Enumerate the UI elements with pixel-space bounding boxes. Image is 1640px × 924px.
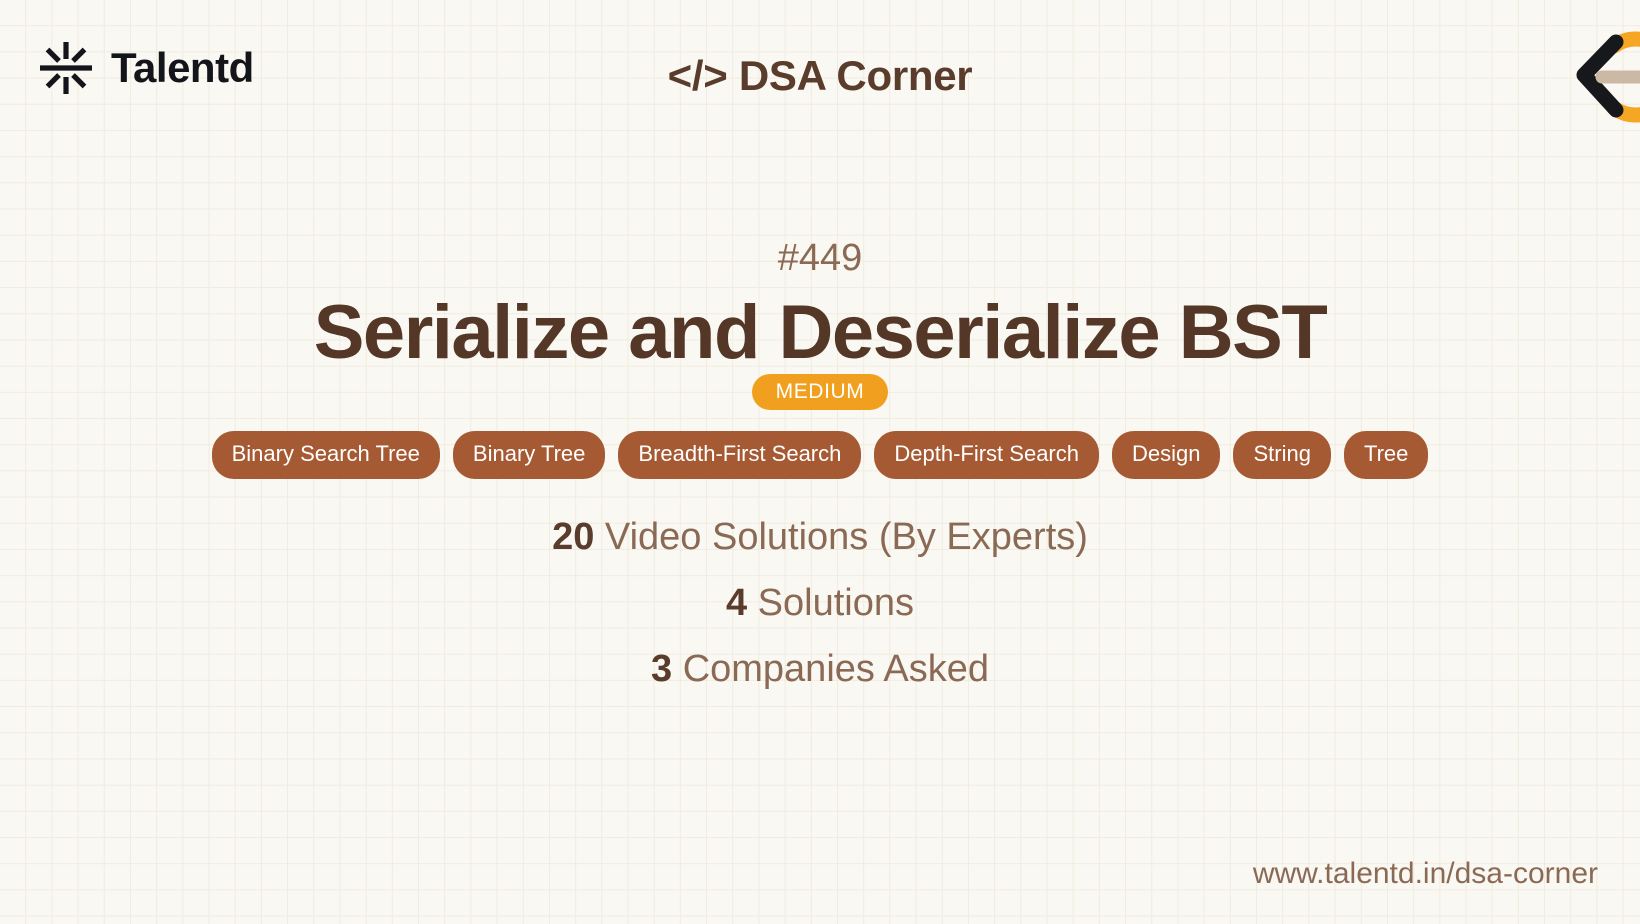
header: Talentd </> DSA Corner [0,0,1640,156]
tag-list: Binary Search Tree Binary Tree Breadth-F… [212,431,1429,479]
stat-row: 3 Companies Asked [651,641,989,698]
problem-title: Serialize and Deserialize BST [314,290,1327,375]
stat-label: Video Solutions (By Experts) [605,516,1088,558]
stat-row: 4 Solutions [726,575,914,632]
footer-url[interactable]: www.talentd.in/dsa-corner [1253,856,1598,892]
difficulty-badge: MEDIUM [752,374,889,410]
problem-number: #449 [778,238,863,280]
tag-chip[interactable]: Breadth-First Search [618,431,861,479]
chevron-logo-mark-icon [1528,22,1640,132]
stat-count: 4 [726,582,747,624]
problem-card: #449 Serialize and Deserialize BST MEDIU… [0,238,1640,698]
tag-chip[interactable]: Depth-First Search [874,431,1099,479]
tag-chip[interactable]: Binary Tree [453,431,606,479]
stats-list: 20 Video Solutions (By Experts) 4 Soluti… [552,509,1088,698]
stat-label: Companies Asked [683,648,989,690]
tag-chip[interactable]: Design [1112,431,1220,479]
stat-label: Solutions [758,582,914,624]
tag-chip[interactable]: Binary Search Tree [212,431,440,479]
stat-count: 20 [552,516,594,558]
stat-row: 20 Video Solutions (By Experts) [552,509,1088,566]
stat-count: 3 [651,648,672,690]
tag-chip[interactable]: Tree [1344,431,1428,479]
tag-chip[interactable]: String [1233,431,1330,479]
page-title: </> DSA Corner [0,52,1640,100]
